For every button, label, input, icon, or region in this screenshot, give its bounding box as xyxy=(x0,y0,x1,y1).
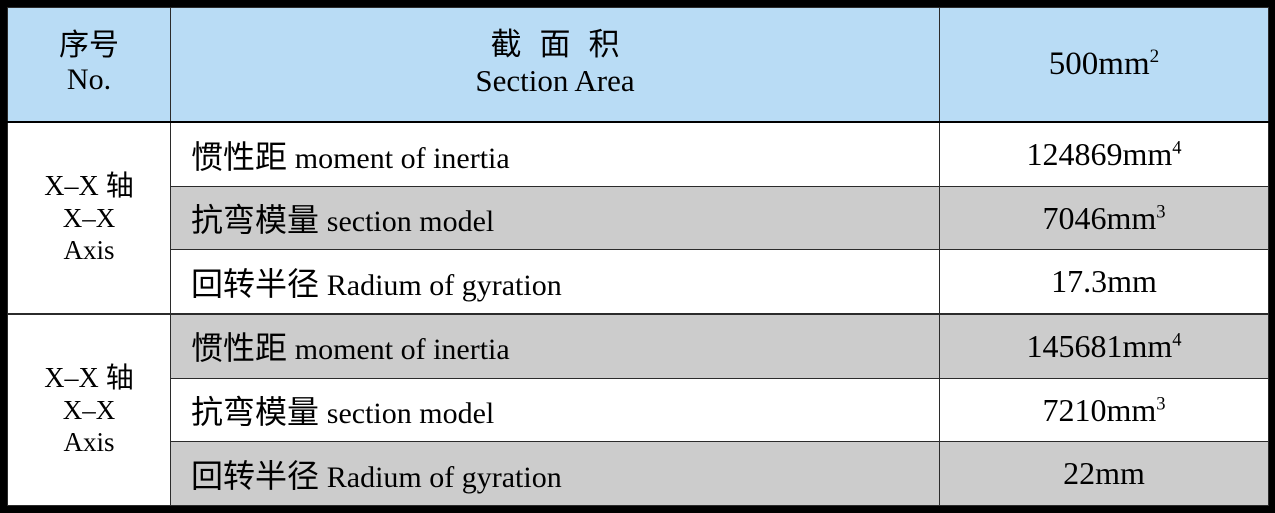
table-row: X–X 轴 X–X Axis 惯性距 moment of inertia 124… xyxy=(8,122,1269,186)
header-cell-area-value: 500mm2 xyxy=(940,8,1269,123)
property-label-english: moment of inertia xyxy=(295,333,510,366)
header-area-value: 500mm xyxy=(1049,46,1150,82)
table-row: 抗弯模量 section model 7046mm3 xyxy=(8,186,1269,250)
property-label-cell: 回转半径 Radium of gyration xyxy=(171,250,940,314)
property-value: 124869mm xyxy=(1026,136,1172,172)
table-row: 回转半径 Radium of gyration 17.3mm xyxy=(8,250,1269,314)
property-value: 17.3mm xyxy=(1051,263,1157,299)
axis-label-english-2: Axis xyxy=(8,235,170,267)
property-label-english: Radium of gyration xyxy=(327,269,562,302)
header-area-exponent: 2 xyxy=(1150,46,1160,67)
property-label-cell: 回转半径 Radium of gyration xyxy=(171,442,940,506)
header-section-chinese: 截面积 xyxy=(171,27,939,63)
property-label-english: Radium of gyration xyxy=(327,461,562,494)
property-value-exponent: 3 xyxy=(1156,201,1165,222)
property-label-cell: 抗弯模量 section model xyxy=(171,186,940,250)
table-row: 抗弯模量 section model 7210mm3 xyxy=(8,378,1269,442)
property-value-cell: 22mm xyxy=(940,442,1269,506)
section-properties-table: 序号 No. 截面积 Section Area 500mm2 X–X 轴 X–X… xyxy=(7,7,1269,506)
axis-label-english-1: X–X xyxy=(8,395,170,427)
property-label-cell: 抗弯模量 section model xyxy=(171,378,940,442)
header-cell-section-area: 截面积 Section Area xyxy=(171,8,940,123)
property-label-chinese: 抗弯模量 xyxy=(191,394,319,430)
property-label-chinese: 惯性距 xyxy=(191,139,287,175)
property-value-cell: 7210mm3 xyxy=(940,378,1269,442)
axis-group-label-1: X–X 轴 X–X Axis xyxy=(8,122,171,314)
property-value-cell: 145681mm4 xyxy=(940,314,1269,378)
axis-label-chinese: X–X 轴 xyxy=(8,170,170,203)
property-label-cell: 惯性距 moment of inertia xyxy=(171,314,940,378)
property-value-cell: 7046mm3 xyxy=(940,186,1269,250)
axis-label-chinese: X–X 轴 xyxy=(8,362,170,395)
section-properties-table-container: 序号 No. 截面积 Section Area 500mm2 X–X 轴 X–X… xyxy=(0,0,1275,513)
header-cell-no: 序号 No. xyxy=(8,8,171,123)
header-no-english: No. xyxy=(8,63,170,97)
property-label-english: section model xyxy=(327,205,494,238)
property-value-exponent: 4 xyxy=(1172,137,1181,158)
property-value-cell: 17.3mm xyxy=(940,250,1269,314)
property-value: 7210mm xyxy=(1042,392,1156,428)
property-label-english: section model xyxy=(327,397,494,430)
property-value-exponent: 4 xyxy=(1172,329,1181,350)
axis-label-english-2: Axis xyxy=(8,427,170,459)
property-label-chinese: 回转半径 xyxy=(191,266,319,302)
property-value-cell: 124869mm4 xyxy=(940,122,1269,186)
property-value-exponent: 3 xyxy=(1156,393,1165,414)
property-value: 7046mm xyxy=(1042,200,1156,236)
property-label-chinese: 回转半径 xyxy=(191,458,319,494)
table-header-row: 序号 No. 截面积 Section Area 500mm2 xyxy=(8,8,1269,123)
axis-group-label-2: X–X 轴 X–X Axis xyxy=(8,314,171,505)
property-label-chinese: 惯性距 xyxy=(191,330,287,366)
property-label-chinese: 抗弯模量 xyxy=(191,202,319,238)
axis-label-english-1: X–X xyxy=(8,203,170,235)
header-section-english: Section Area xyxy=(171,63,939,99)
property-value: 22mm xyxy=(1063,455,1145,491)
table-row: X–X 轴 X–X Axis 惯性距 moment of inertia 145… xyxy=(8,314,1269,378)
property-value: 145681mm xyxy=(1026,328,1172,364)
header-no-chinese: 序号 xyxy=(8,29,170,63)
property-label-english: moment of inertia xyxy=(295,142,510,175)
property-label-cell: 惯性距 moment of inertia xyxy=(171,122,940,186)
table-row: 回转半径 Radium of gyration 22mm xyxy=(8,442,1269,506)
